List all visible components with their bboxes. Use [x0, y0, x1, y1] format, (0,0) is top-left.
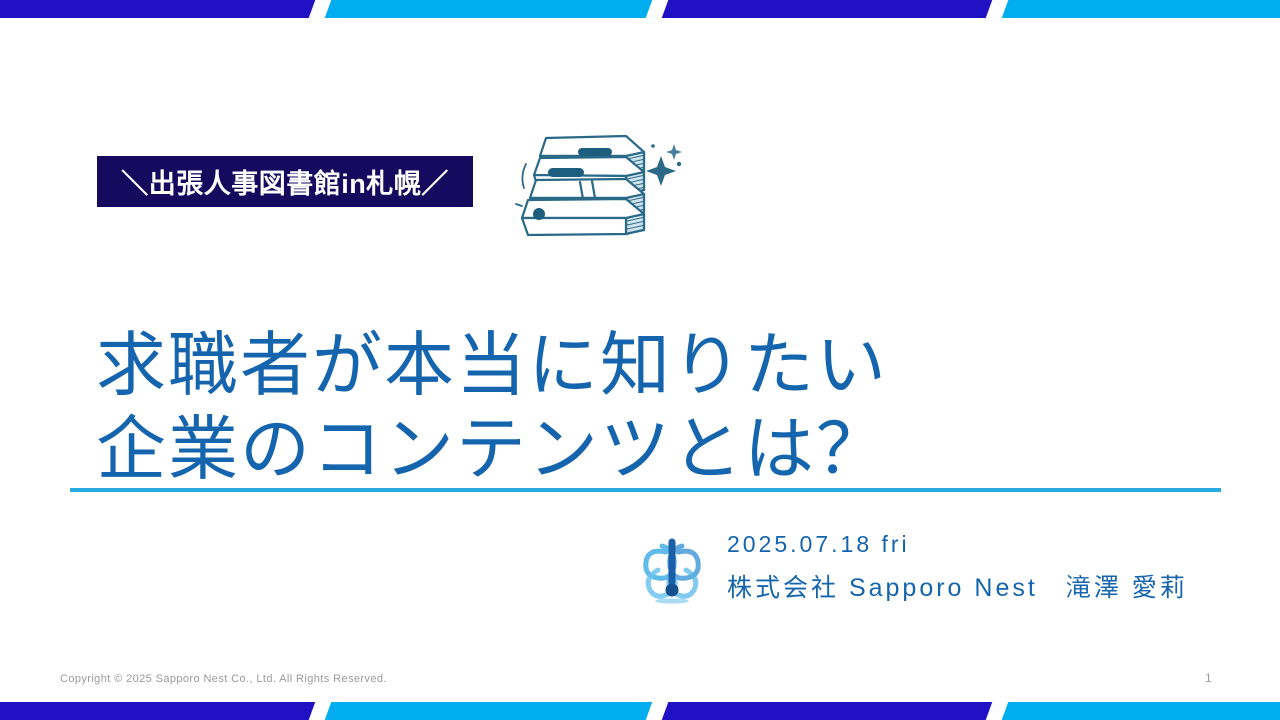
presenter-name: 株式会社 Sapporo Nest 滝澤 愛莉 [727, 566, 1188, 610]
title-slide: ＼出張人事図書館in札幌／ [0, 0, 1280, 720]
copyright-notice: Copyright © 2025 Sapporo Nest Co., Ltd. … [60, 673, 387, 685]
stack-of-books-icon [508, 126, 688, 248]
page-title-line-2: 企業のコンテンツとは？ [96, 407, 1196, 491]
top-bar-segment-cyan-2 [995, 0, 1280, 18]
top-bar-segment-navy-1 [0, 0, 320, 18]
page-number: 1 [1205, 671, 1212, 685]
title-divider [70, 488, 1221, 492]
event-date: 2025.07.18 fri [727, 522, 1188, 566]
bottom-bar-segment-navy-1 [0, 702, 320, 720]
page-title-line-1: 求職者が本当に知りたい [96, 323, 1196, 407]
presenter-text: 2025.07.18 fri 株式会社 Sapporo Nest 滝澤 愛莉 [727, 522, 1188, 610]
top-bar-segment-cyan-1 [318, 0, 658, 18]
bottom-bar-segment-cyan-1 [318, 702, 658, 720]
presenter-block: 2025.07.18 fri 株式会社 Sapporo Nest 滝澤 愛莉 [636, 522, 1188, 610]
bottom-bar-segment-navy-2 [655, 702, 998, 720]
event-badge: ＼出張人事図書館in札幌／ [97, 156, 473, 207]
bottom-decorative-bar [0, 702, 1280, 720]
bottom-bar-segment-cyan-2 [995, 702, 1280, 720]
event-badge-label: ＼出張人事図書館in札幌／ [121, 162, 449, 201]
page-title: 求職者が本当に知りたい 企業のコンテンツとは？ [96, 323, 1196, 491]
sapporo-nest-logo [636, 526, 708, 606]
top-bar-segment-navy-2 [655, 0, 998, 18]
top-decorative-bar [0, 0, 1280, 18]
